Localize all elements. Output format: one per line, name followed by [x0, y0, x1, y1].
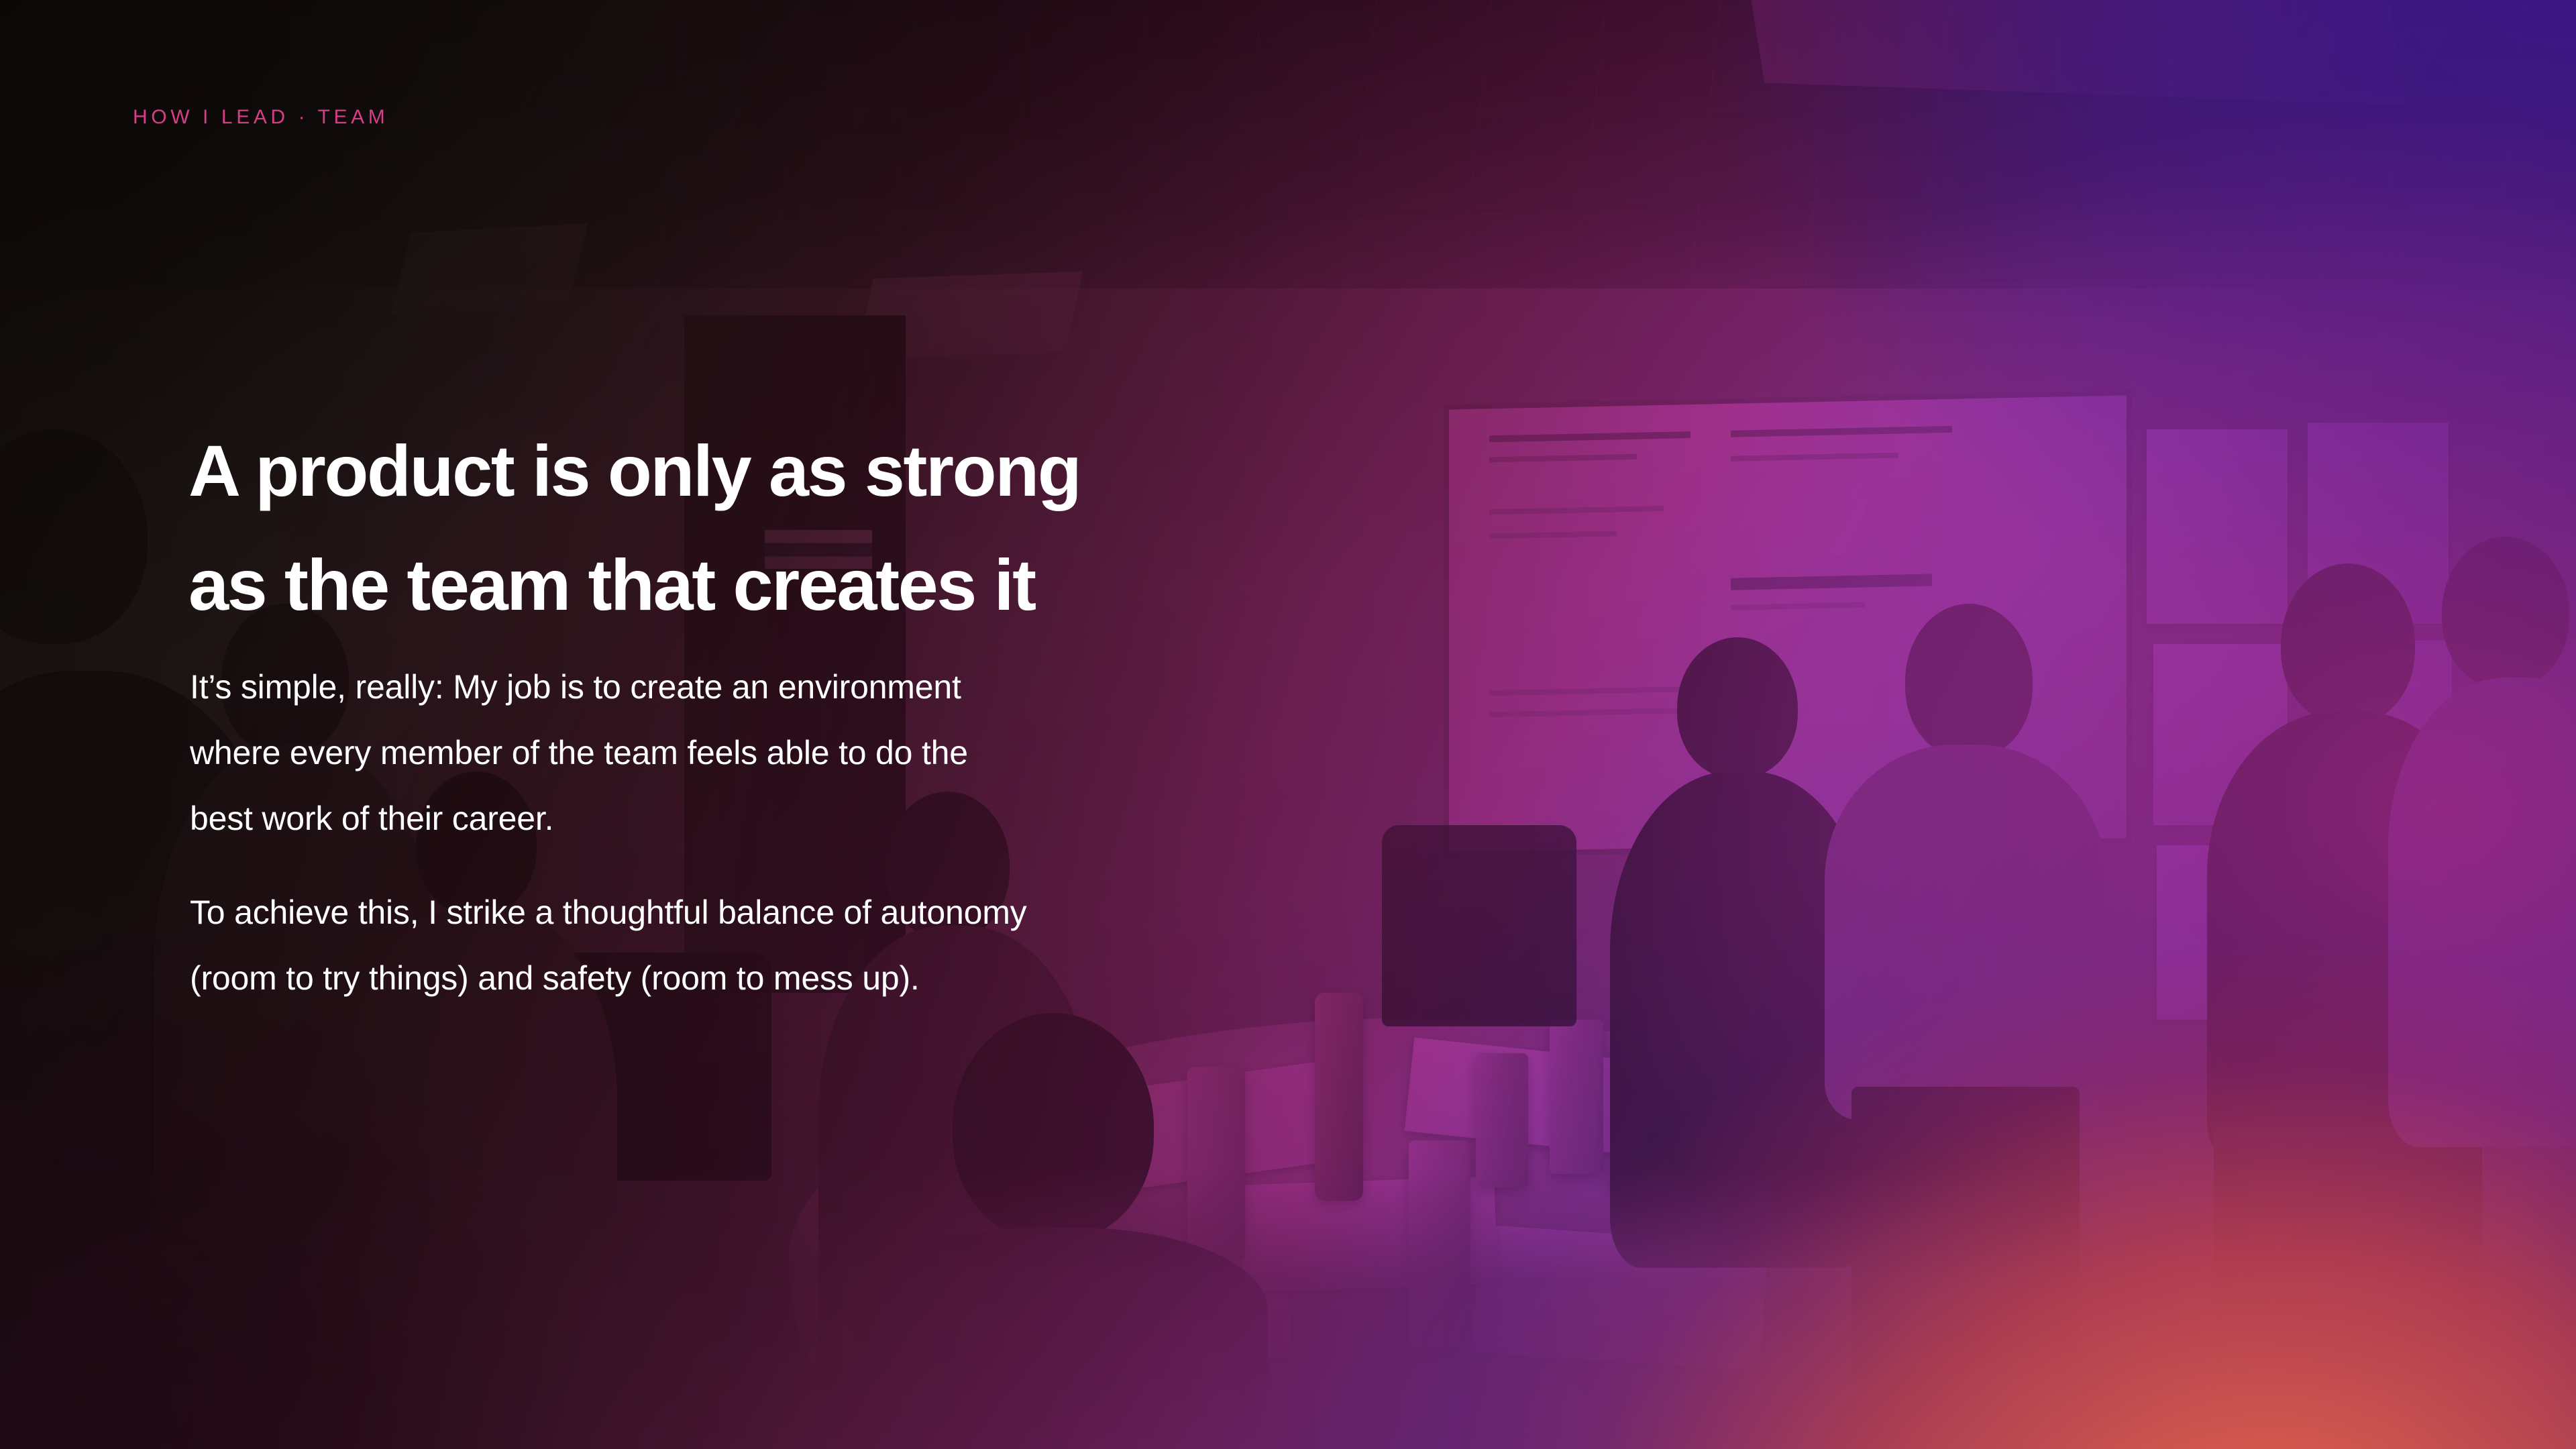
headline-line-2: as the team that creates it: [189, 528, 1597, 642]
body-line: best work of their career.: [190, 786, 1565, 851]
body-line: (room to try things) and safety (room to…: [190, 945, 1565, 1011]
body-paragraph-1: It’s simple, really: My job is to create…: [190, 654, 1565, 851]
slide-content: HOW I LEAD · TEAM A product is only as s…: [0, 0, 2576, 1449]
eyebrow-label: HOW I LEAD · TEAM: [133, 107, 388, 127]
headline-line-1: A product is only as strong: [189, 414, 1597, 528]
body-line: where every member of the team feels abl…: [190, 720, 1565, 786]
slide-root: HOW I LEAD · TEAM A product is only as s…: [0, 0, 2576, 1449]
body-copy: It’s simple, really: My job is to create…: [190, 654, 1565, 1011]
body-line: It’s simple, really: My job is to create…: [190, 654, 1565, 720]
body-line: To achieve this, I strike a thoughtful b…: [190, 879, 1565, 945]
body-paragraph-2: To achieve this, I strike a thoughtful b…: [190, 879, 1565, 1011]
page-title: A product is only as strong as the team …: [189, 414, 1597, 642]
